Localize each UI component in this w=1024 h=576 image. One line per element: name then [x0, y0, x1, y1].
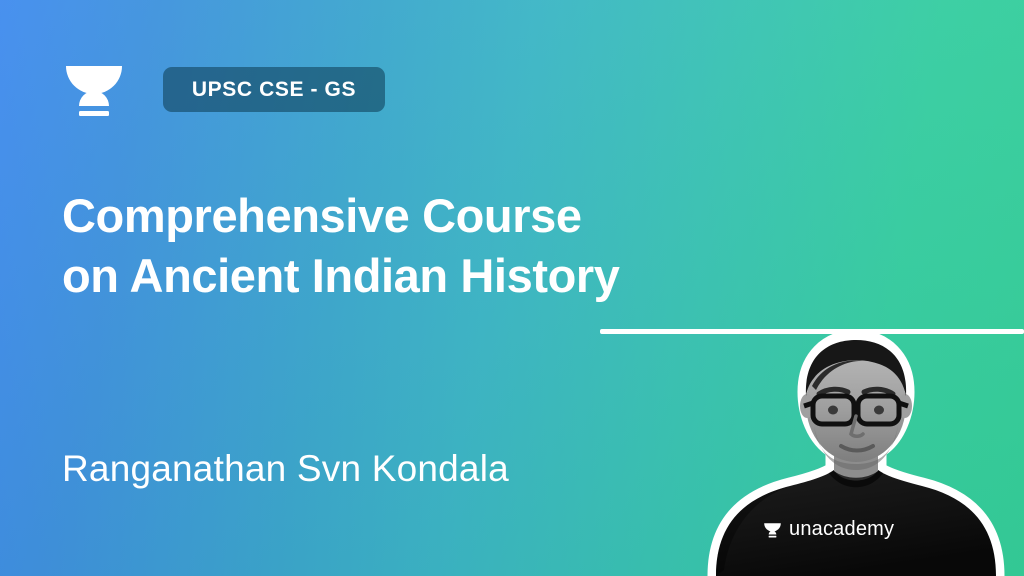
course-title: Comprehensive Course on Ancient Indian H… — [62, 186, 642, 306]
category-badge-label: UPSC CSE - GS — [192, 78, 356, 102]
educator-photo — [686, 330, 1024, 576]
instructor-name: Ranganathan Svn Kondala — [62, 448, 509, 490]
unacademy-bowl-logo — [62, 58, 126, 120]
category-badge[interactable]: UPSC CSE - GS — [163, 67, 385, 112]
course-thumbnail-card: UPSC CSE - GS Comprehensive Course on An… — [0, 0, 1024, 576]
